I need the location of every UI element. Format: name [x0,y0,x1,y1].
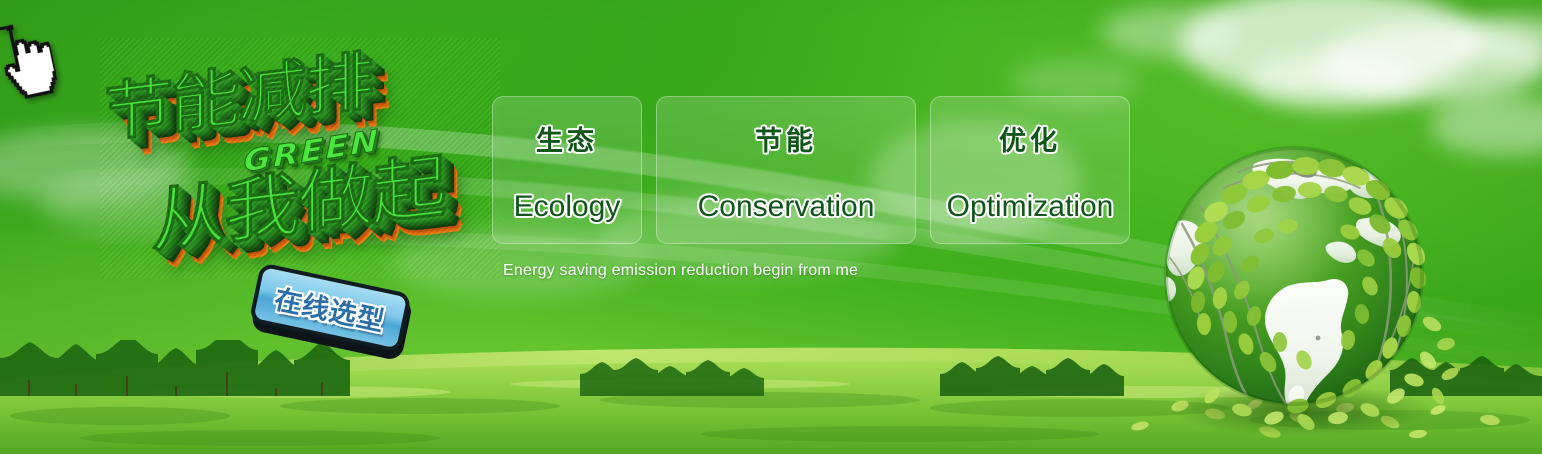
feature-card-conservation-en: Conservation [698,190,875,224]
feature-cards: 生态 Ecology 节能 Conservation 优化 Optimizati… [492,96,1130,244]
headline-3d-text: 节能减排 GREEN 从我做起 [100,38,500,278]
online-selection-button-label: 在线选型 [271,277,389,338]
banner-tagline: Energy saving emission reduction begin f… [503,262,858,280]
feature-card-optimization[interactable]: 优化 Optimization [930,96,1130,244]
feature-card-optimization-en: Optimization [947,190,1114,224]
green-energy-banner: 节能减排 GREEN 从我做起 在线选型 生态 Ecology 节能 Conse… [0,0,1542,454]
feature-card-optimization-cn: 优化 [999,119,1061,158]
leafy-earth-globe-icon [1142,128,1464,446]
feature-card-ecology[interactable]: 生态 Ecology [492,96,642,244]
feature-card-conservation[interactable]: 节能 Conservation [656,96,916,244]
feature-card-ecology-en: Ecology [514,190,621,224]
feature-card-ecology-cn: 生态 [536,119,598,158]
feature-card-conservation-cn: 节能 [755,119,817,158]
